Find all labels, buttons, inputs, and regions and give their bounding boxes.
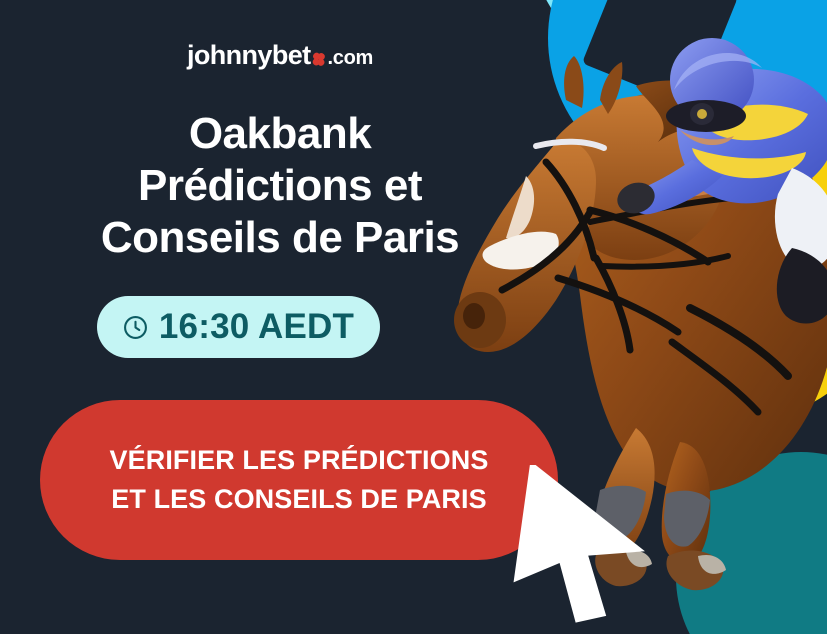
logo-tld-text: .com	[328, 47, 373, 69]
clover-icon	[313, 53, 325, 65]
check-predictions-button[interactable]: VÉRIFIER LES PRÉDICTIONS ET LES CONSEILS…	[40, 400, 558, 560]
cta-button-label: VÉRIFIER LES PRÉDICTIONS ET LES CONSEILS…	[98, 441, 500, 519]
content-column: johnnybet.com Oakbank Prédictions et Con…	[0, 0, 560, 634]
promo-banner: johnnybet.com Oakbank Prédictions et Con…	[0, 0, 827, 634]
event-time-text: 16:30 AEDT	[159, 309, 354, 346]
site-logo[interactable]: johnnybet.com	[0, 40, 560, 71]
clock-icon	[123, 315, 148, 340]
event-time-badge: 16:30 AEDT	[97, 296, 380, 358]
page-title: Oakbank Prédictions et Conseils de Paris	[12, 108, 548, 264]
page-title-line-1: Oakbank	[12, 108, 548, 160]
page-title-line-3: Conseils de Paris	[12, 212, 548, 264]
page-title-line-2: Prédictions et	[12, 160, 548, 212]
logo-brand-text: johnnybet	[187, 40, 311, 70]
